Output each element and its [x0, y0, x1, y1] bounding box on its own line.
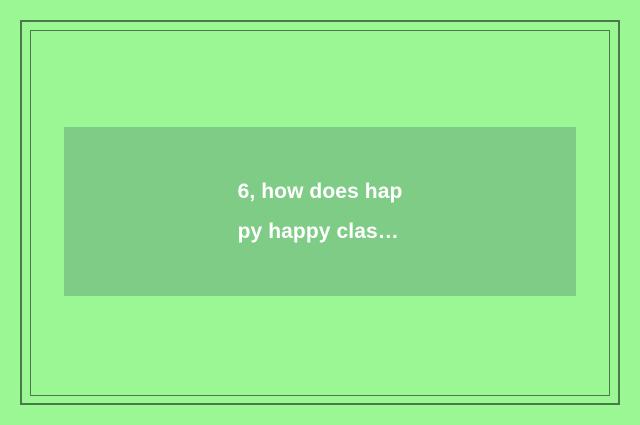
- page-stage: 6, how does hap py happy clas…: [0, 0, 640, 425]
- content-panel: 6, how does hap py happy clas…: [64, 127, 576, 296]
- panel-text: 6, how does hap py happy clas…: [238, 172, 403, 252]
